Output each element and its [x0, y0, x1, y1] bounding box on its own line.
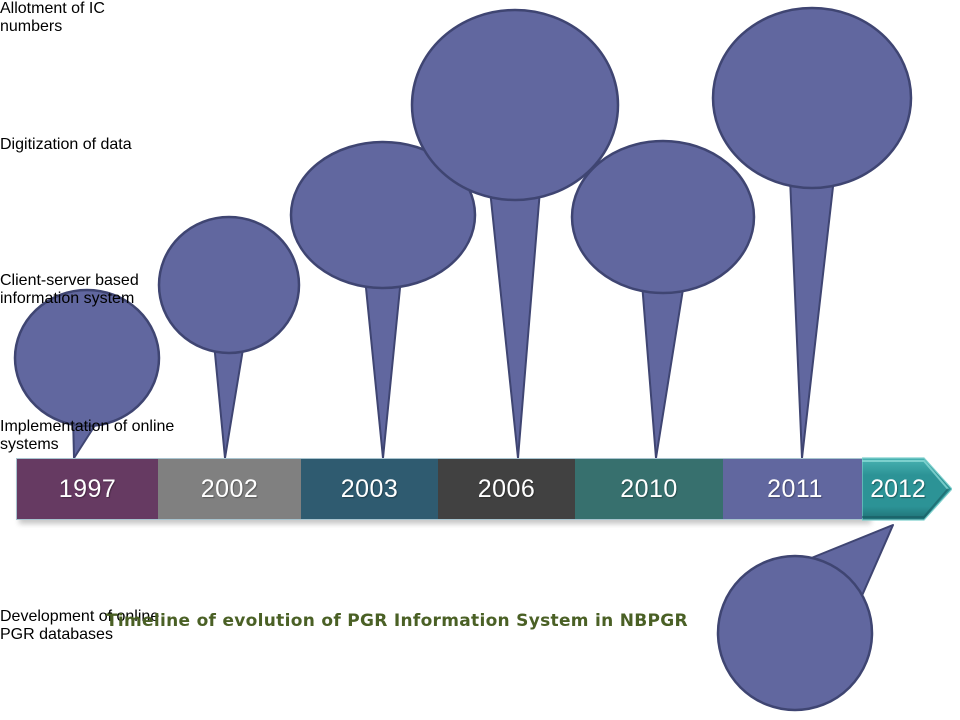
- timeline-segment-1997-label: 1997: [59, 475, 117, 504]
- callout-tail: [642, 283, 684, 458]
- chevron-shape: [862, 452, 952, 526]
- callout-client-server-based-information-system[interactable]: [291, 142, 475, 458]
- timeline-segment-2011-label: 2011: [767, 475, 823, 504]
- timeline-segment-2006[interactable]: 2006: [438, 459, 575, 519]
- callout-bubble[interactable]: [159, 217, 299, 353]
- timeline-segment-2002-label: 2002: [201, 475, 259, 504]
- callout-tail: [214, 343, 244, 458]
- timeline-segment-2003[interactable]: 2003: [301, 459, 438, 519]
- timeline-segment-2010-label: 2010: [620, 475, 678, 504]
- timeline-segment-2011[interactable]: 2011: [723, 459, 867, 519]
- timeline-segment-2003-label: 2003: [341, 475, 399, 504]
- timeline-segment-2010[interactable]: 2010: [575, 459, 723, 519]
- callout-bubble[interactable]: [15, 290, 159, 426]
- callout-development-of-online-pgr-databases[interactable]: [572, 141, 754, 458]
- callout-tail: [490, 190, 540, 458]
- callout-nbpgr-portal[interactable]: [718, 525, 893, 710]
- callout-tail: [365, 278, 401, 458]
- timeline-bar: 199720022003200620102011: [16, 458, 868, 520]
- callout-bubble[interactable]: [572, 141, 754, 293]
- timeline-segment-2002[interactable]: 2002: [158, 459, 301, 519]
- timeline-segment-1997[interactable]: 1997: [17, 459, 158, 519]
- callout-digitization-of-data[interactable]: [159, 217, 299, 458]
- timeline-segment-2006-label: 2006: [478, 475, 536, 504]
- timeline-segment-2012[interactable]: 2012: [862, 452, 952, 526]
- callout-bubble[interactable]: [713, 8, 911, 188]
- diagram-caption: Timeline of evolution of PGR Information…: [106, 611, 688, 631]
- callout-tail: [790, 178, 834, 458]
- callout-bubble[interactable]: [718, 556, 872, 710]
- callout-allotment-of-ic-numbers[interactable]: [15, 290, 159, 458]
- timeline-diagram: 199720022003200620102011 2012 Allotment …: [0, 0, 960, 720]
- callout-bubble[interactable]: [412, 10, 618, 200]
